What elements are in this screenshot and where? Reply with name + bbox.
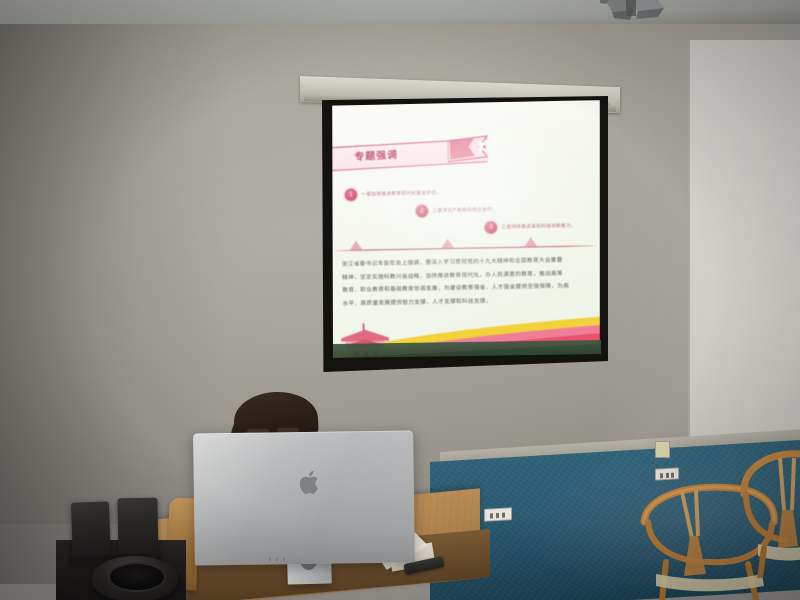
wall-outlet-corner[interactable] — [655, 441, 670, 458]
bullet-number-2: 2 — [416, 205, 429, 218]
wall-highlight-right — [600, 24, 800, 454]
slide-title: 专题强调 — [354, 146, 398, 163]
wall-outlet-left[interactable] — [484, 507, 512, 522]
slide-bullet-1: 1 一是加快推进教育现代化建设步伐。 — [345, 187, 442, 201]
slide-bullet-3: 3 三是持续推进高校科技创新能力。 — [485, 220, 577, 234]
axis-marker-1 — [350, 240, 363, 250]
svg-text:★: ★ — [482, 145, 487, 151]
subwoofer-driver — [108, 562, 166, 592]
slide-body: 浙江省委书记车俊在会上强调，要深入学习贯彻党的十九大精神和全国教育大会重要 精神… — [342, 254, 593, 311]
axis-marker-3 — [524, 237, 537, 247]
right-speaker[interactable] — [117, 498, 158, 563]
projection-screen-surface: 专题强调 ★ 1 一是加快推进教育现代化建设步伐。 2 — [332, 100, 600, 358]
bullet-number-1: 1 — [345, 188, 358, 201]
bullet-text-1: 一是加快推进教育现代化建设步伐。 — [361, 190, 441, 198]
bullet-number-3: 3 — [485, 221, 498, 234]
axis-marker-2 — [441, 239, 454, 249]
slide-bullets: 1 一是加快推进教育现代化建设步伐。 2 二是深化产教融合校企合作。 3 三是持… — [345, 184, 590, 243]
bullet-text-3: 三是持续推进高校科技创新能力。 — [501, 223, 576, 231]
wishbone-chair-back[interactable] — [738, 448, 800, 578]
bullet-text-2: 二是深化产教融合校企合作。 — [432, 207, 497, 214]
slide-bullet-2: 2 二是深化产教融合校企合作。 — [416, 203, 498, 217]
powerpoint-slide: 专题强调 ★ 1 一是加快推进教育现代化建设步伐。 2 — [332, 100, 600, 358]
apple-imac[interactable] — [193, 430, 415, 565]
ceiling-projector-mount — [600, 0, 670, 22]
slide-divider-line — [335, 245, 595, 251]
slide-title-ribbon: 专题强调 ★ — [332, 132, 571, 174]
apple-logo — [300, 470, 322, 496]
imac-sheen — [193, 430, 415, 565]
ribbon-flag-icon: ★ — [448, 133, 511, 165]
imac-vent — [269, 548, 299, 552]
meeting-room-photo: Pofien 专题强调 ★ — [0, 0, 800, 600]
